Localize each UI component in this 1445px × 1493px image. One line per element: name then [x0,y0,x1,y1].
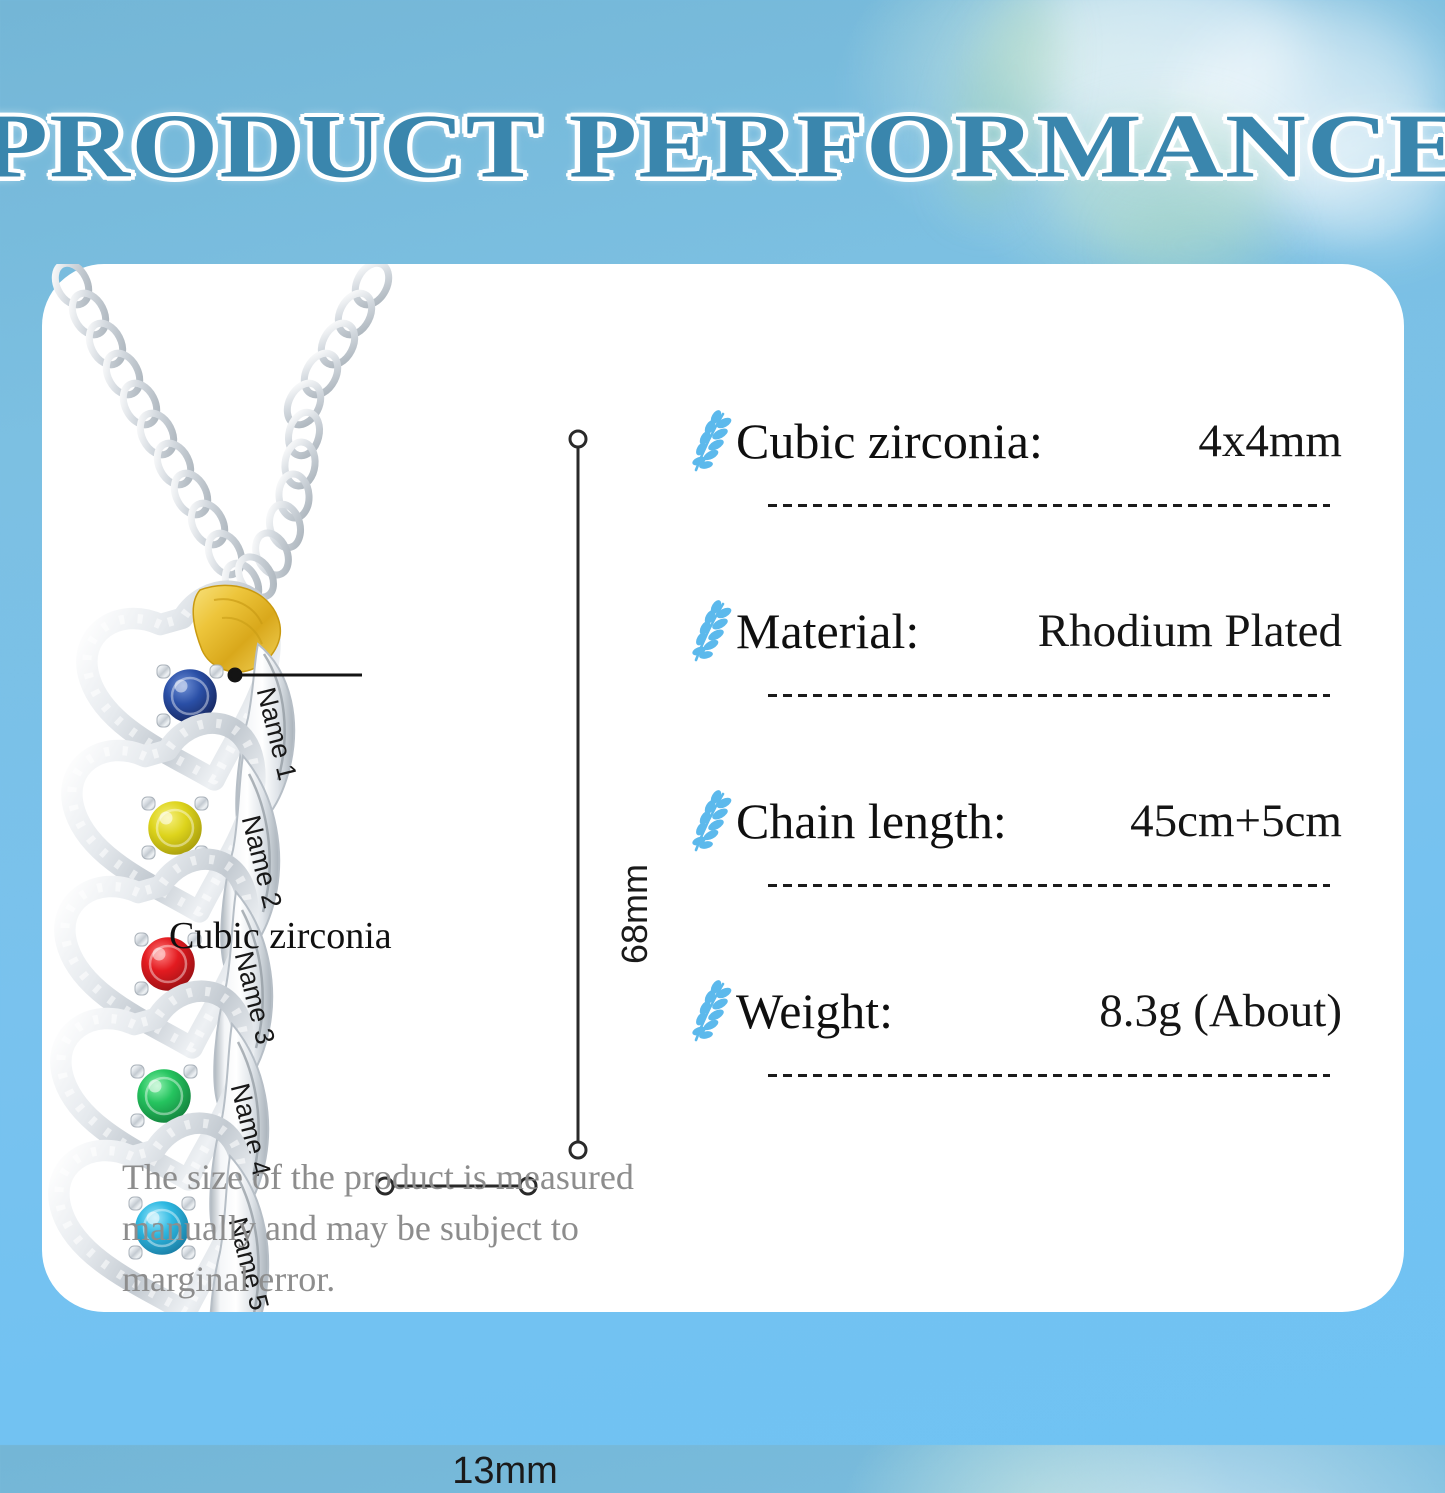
spec-value: 4x4mm [1198,414,1350,468]
necklace-chain [49,264,396,610]
spec-divider [768,504,1330,507]
content-card: Name 1 Na [42,264,1404,1312]
page-header: PRODUCT PERFORMANCE [0,103,1445,189]
spec-list: Cubic zirconia: 4x4mm [690,382,1350,1142]
spec-label: Material: [736,602,919,660]
height-dimension-label: 68mm [614,864,656,964]
heart-pendant: Name 1 [76,581,304,836]
spec-row-weight: Weight: 8.3g (About) [690,952,1350,1142]
wheat-sprig-icon [690,790,732,852]
width-dimension-label: 13mm [405,1450,605,1493]
cubic-zirconia-callout-label: Cubic zirconia [169,914,392,958]
spec-label: Cubic zirconia: [736,412,1043,470]
spec-label: Weight: [736,982,893,1040]
wheat-sprig-icon [690,410,732,472]
spec-divider [768,884,1330,887]
wheat-sprig-icon [690,980,732,1042]
spec-row-chain-length: Chain length: 45cm+5cm [690,762,1350,952]
height-dimension-line [570,431,586,1158]
spec-value: 45cm+5cm [1130,794,1350,848]
spec-row-material: Material: Rhodium Plated [690,572,1350,762]
spec-label: Chain length: [736,792,1007,850]
spec-divider [768,1074,1330,1077]
measurement-disclaimer: The size of the product is measured manu… [122,1152,702,1305]
page-title: PRODUCT PERFORMANCE [0,100,1445,191]
spec-value: Rhodium Plated [1038,604,1350,658]
spec-divider [768,694,1330,697]
spec-row-cubic-zirconia: Cubic zirconia: 4x4mm [690,382,1350,572]
spec-value: 8.3g (About) [1099,984,1350,1038]
wheat-sprig-icon [690,600,732,662]
